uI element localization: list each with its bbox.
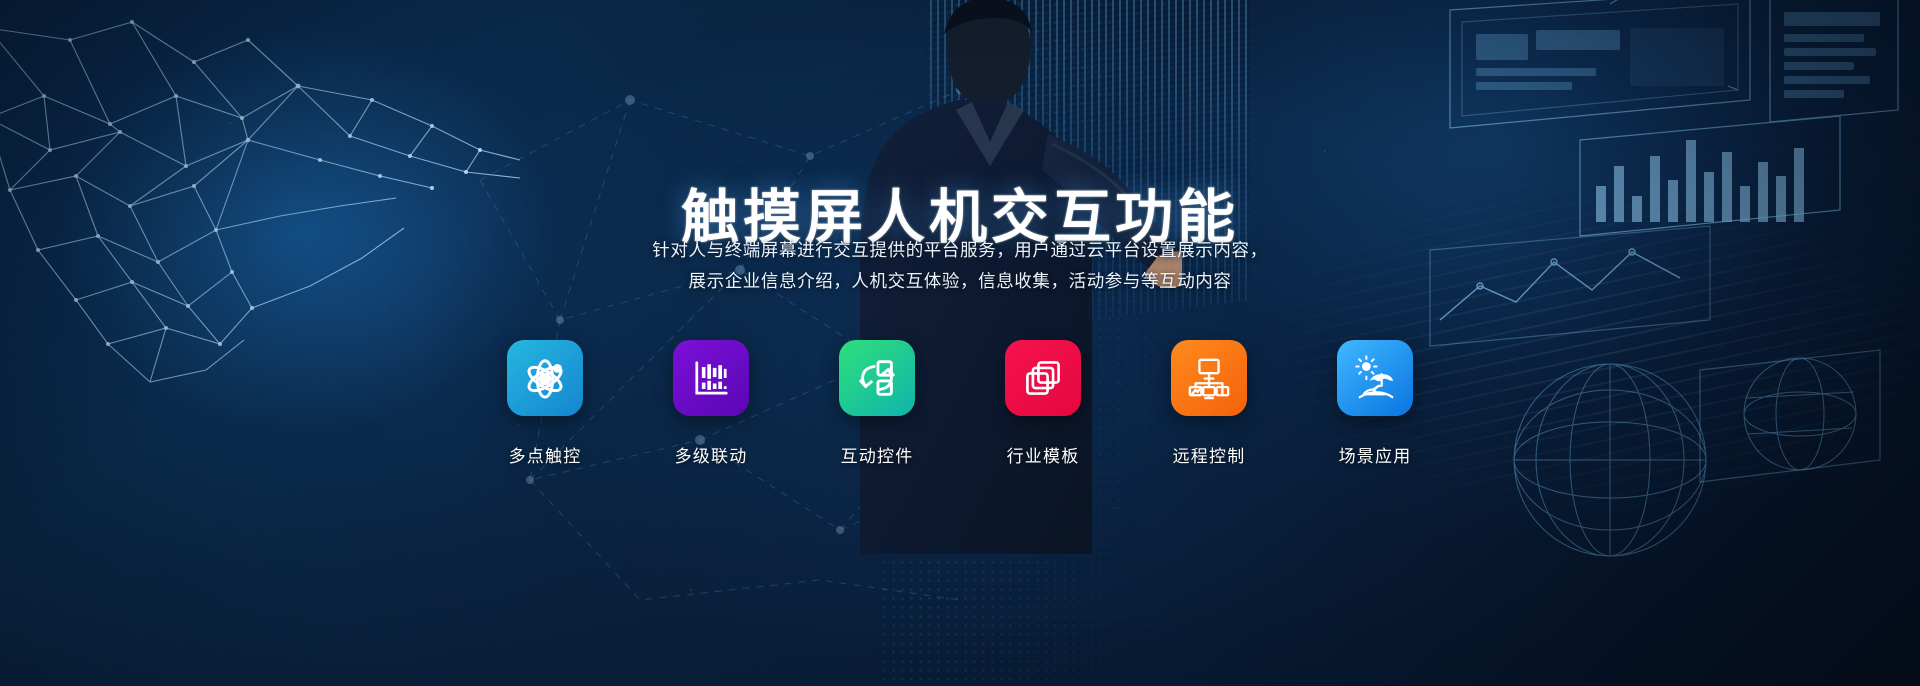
feature-label-remote-control: 远程控制 [1173,442,1246,467]
banner-subtitle: 针对人与终端屏幕进行交互提供的平台服务，用户通过云平台设置展示内容， 展示企业信… [0,235,1920,297]
feature-item-scenario-application[interactable]: 场景应用 [1325,340,1425,467]
feature-item-multitouch[interactable]: 多点触控 [495,340,595,467]
feature-list: 多点触控 [0,340,1920,467]
feature-item-multilevel-linkage[interactable]: 多级联动 [661,340,761,467]
feature-tile-industry-templates[interactable] [1005,340,1081,416]
feature-tile-interactive-widgets[interactable] [839,340,915,416]
bar-chart-icon [689,356,733,400]
banner-content: 触摸屏人机交互功能 针对人与终端屏幕进行交互提供的平台服务，用户通过云平台设置展… [0,0,1920,686]
feature-label-interactive-widgets: 互动控件 [841,442,914,467]
subtitle-line-1: 针对人与终端屏幕进行交互提供的平台服务，用户通过云平台设置展示内容， [0,235,1920,266]
subtitle-line-2: 展示企业信息介绍，人机交互体验，信息收集，活动参与等互动内容 [0,266,1920,297]
feature-label-multitouch: 多点触控 [509,442,582,467]
feature-tile-multilevel-linkage[interactable] [673,340,749,416]
feature-tile-remote-control[interactable] [1171,340,1247,416]
feature-item-remote-control[interactable]: 远程控制 [1159,340,1259,467]
feature-label-multilevel-linkage: 多级联动 [675,442,748,467]
stacked-cards-icon [1021,356,1065,400]
feature-label-industry-templates: 行业模板 [1007,442,1080,467]
atom-icon [522,355,568,401]
sync-squares-icon [854,355,900,401]
feature-item-industry-templates[interactable]: 行业模板 [993,340,1093,467]
beach-scene-icon [1352,355,1398,401]
feature-tile-multitouch[interactable] [507,340,583,416]
touchscreen-interaction-banner: 触摸屏人机交互功能 针对人与终端屏幕进行交互提供的平台服务，用户通过云平台设置展… [0,0,1920,686]
remote-network-icon [1186,355,1232,401]
feature-tile-scenario-application[interactable] [1337,340,1413,416]
feature-label-scenario-application: 场景应用 [1339,442,1412,467]
feature-item-interactive-widgets[interactable]: 互动控件 [827,340,927,467]
